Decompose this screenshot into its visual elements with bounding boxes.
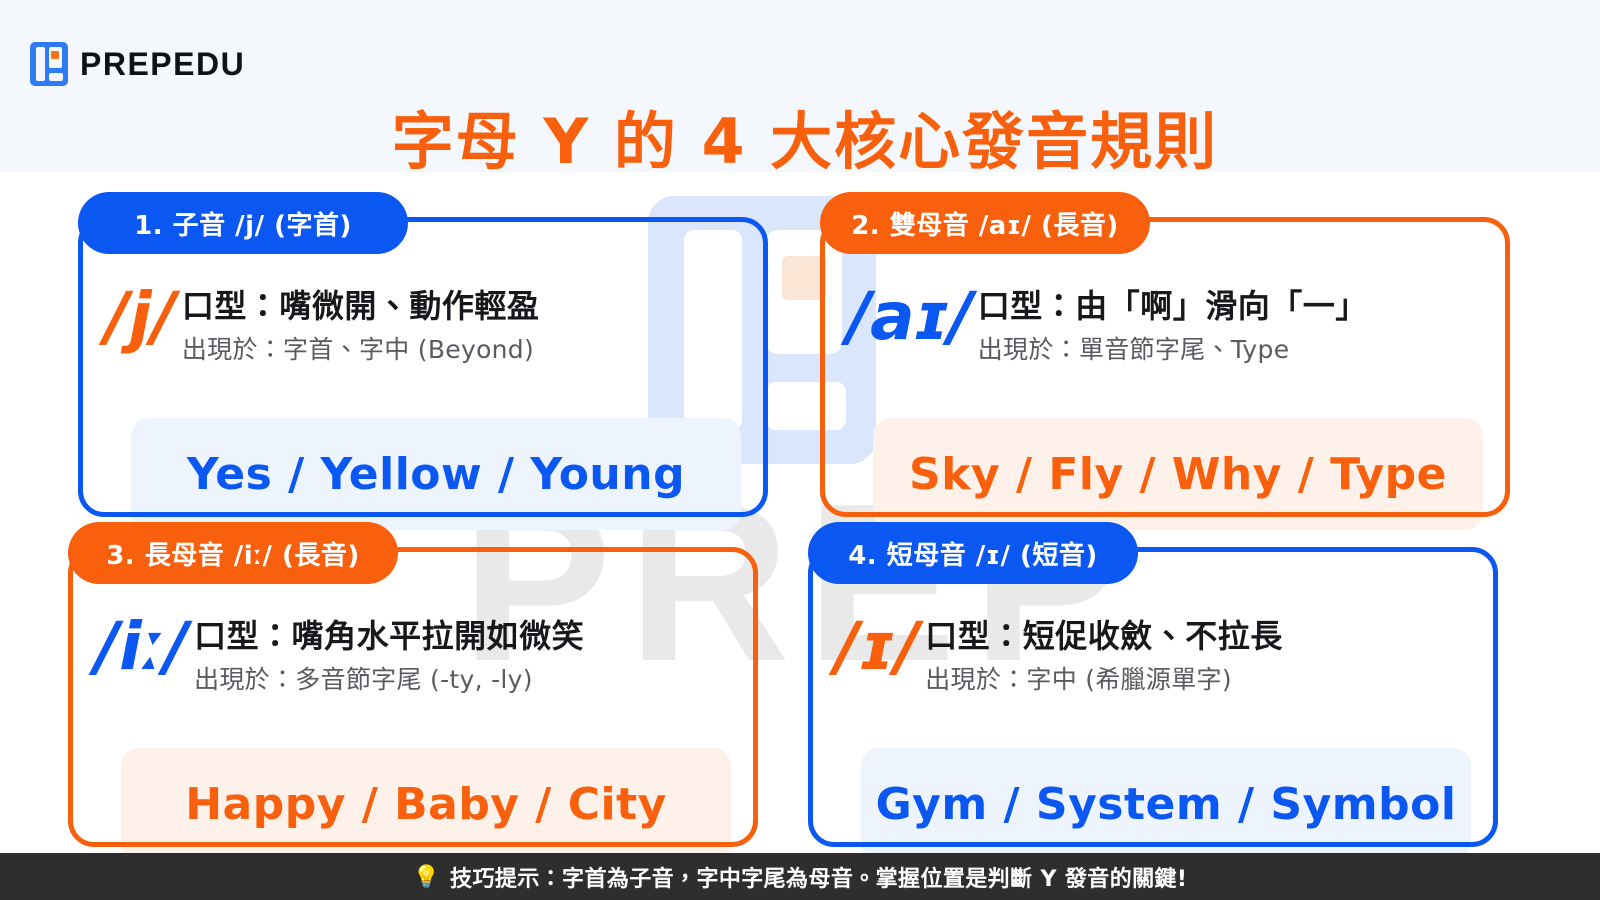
rule-badge-4: 4. 短母音 /ɪ/ (短音): [808, 522, 1138, 584]
occurrence-3: 出現於：多音節字尾 (-ty, -ly): [194, 664, 731, 695]
rule-card-4: 4. 短母音 /ɪ/ (短音) /ɪ/ 口型：短促收斂、不拉長 出現於：字中 (…: [808, 547, 1498, 847]
rule-description-3: 口型：嘴角水平拉開如微笑 出現於：多音節字尾 (-ty, -ly): [194, 610, 731, 695]
prepedu-logo-icon: [30, 42, 68, 86]
tip-footer: 💡 技巧提示：字首為子音，字中字尾為母音。掌握位置是判斷 Y 發音的關鍵!: [0, 853, 1600, 900]
rule-badge-1: 1. 子音 /j/ (字首): [78, 192, 408, 254]
occurrence-4: 出現於：字中 (希臘源單字): [925, 664, 1471, 695]
page-title: 字母 Y 的 4 大核心發音規則: [280, 106, 1330, 177]
mouth-shape-4: 口型：短促收斂、不拉長: [925, 616, 1471, 656]
rule-card-body-1: /j/ 口型：嘴微開、動作輕盈 出現於：字首、字中 (Beyond): [83, 222, 763, 512]
rule-badge-2: 2. 雙母音 /aɪ/ (長音): [820, 192, 1150, 254]
rule-card-2: 2. 雙母音 /aɪ/ (長音) /aɪ/ 口型：由「啊」滑向「一」 出現於：單…: [820, 217, 1510, 517]
phoneme-symbol-1: /j/: [105, 282, 176, 351]
mouth-shape-2: 口型：由「啊」滑向「一」: [978, 286, 1483, 326]
rules-grid: 1. 子音 /j/ (字首) /j/ 口型：嘴微開、動作輕盈 出現於：字首、字中…: [0, 172, 1600, 854]
rule-card-3: 3. 長母音 /iː/ (長音) /iː/ 口型：嘴角水平拉開如微笑 出現於：多…: [68, 547, 758, 847]
brand-logo: PREPEDU: [30, 42, 245, 86]
infographic-poster: PREP PREPEDU 字母 Y 的 4 大核心發音規則 1. 子音 /j/ …: [0, 0, 1600, 900]
rule-card-1: 1. 子音 /j/ (字首) /j/ 口型：嘴微開、動作輕盈 出現於：字首、字中…: [78, 217, 768, 517]
mouth-shape-3: 口型：嘴角水平拉開如微笑: [194, 616, 731, 656]
occurrence-1: 出現於：字首、字中 (Beyond): [182, 334, 741, 365]
poster-header: PREPEDU 字母 Y 的 4 大核心發音規則: [0, 0, 1600, 172]
tip-text: 技巧提示：字首為子音，字中字尾為母音。掌握位置是判斷 Y 發音的關鍵!: [450, 861, 1187, 893]
rule-symbol-row-4: /ɪ/ 口型：短促收斂、不拉長 出現於：字中 (希臘源單字): [835, 610, 1471, 722]
rule-symbol-row-3: /iː/ 口型：嘴角水平拉開如微笑 出現於：多音節字尾 (-ty, -ly): [95, 610, 731, 722]
phoneme-symbol-4: /ɪ/: [835, 612, 919, 681]
occurrence-2: 出現於：單音節字尾、Type: [978, 334, 1483, 365]
rule-card-body-2: /aɪ/ 口型：由「啊」滑向「一」 出現於：單音節字尾、Type: [825, 222, 1505, 512]
rule-description-1: 口型：嘴微開、動作輕盈 出現於：字首、字中 (Beyond): [182, 280, 741, 365]
rule-description-2: 口型：由「啊」滑向「一」 出現於：單音節字尾、Type: [978, 280, 1483, 365]
lightbulb-icon: 💡: [413, 866, 440, 888]
phoneme-symbol-3: /iː/: [95, 612, 188, 681]
mouth-shape-1: 口型：嘴微開、動作輕盈: [182, 286, 741, 326]
rule-card-body-4: /ɪ/ 口型：短促收斂、不拉長 出現於：字中 (希臘源單字): [813, 552, 1493, 842]
rule-symbol-row-1: /j/ 口型：嘴微開、動作輕盈 出現於：字首、字中 (Beyond): [105, 280, 741, 392]
rule-symbol-row-2: /aɪ/ 口型：由「啊」滑向「一」 出現於：單音節字尾、Type: [847, 280, 1483, 392]
rule-card-body-3: /iː/ 口型：嘴角水平拉開如微笑 出現於：多音節字尾 (-ty, -ly): [73, 552, 753, 842]
brand-name: PREPEDU: [80, 46, 245, 83]
phoneme-symbol-2: /aɪ/: [847, 282, 972, 351]
rule-description-4: 口型：短促收斂、不拉長 出現於：字中 (希臘源單字): [925, 610, 1471, 695]
rule-badge-3: 3. 長母音 /iː/ (長音): [68, 522, 398, 584]
